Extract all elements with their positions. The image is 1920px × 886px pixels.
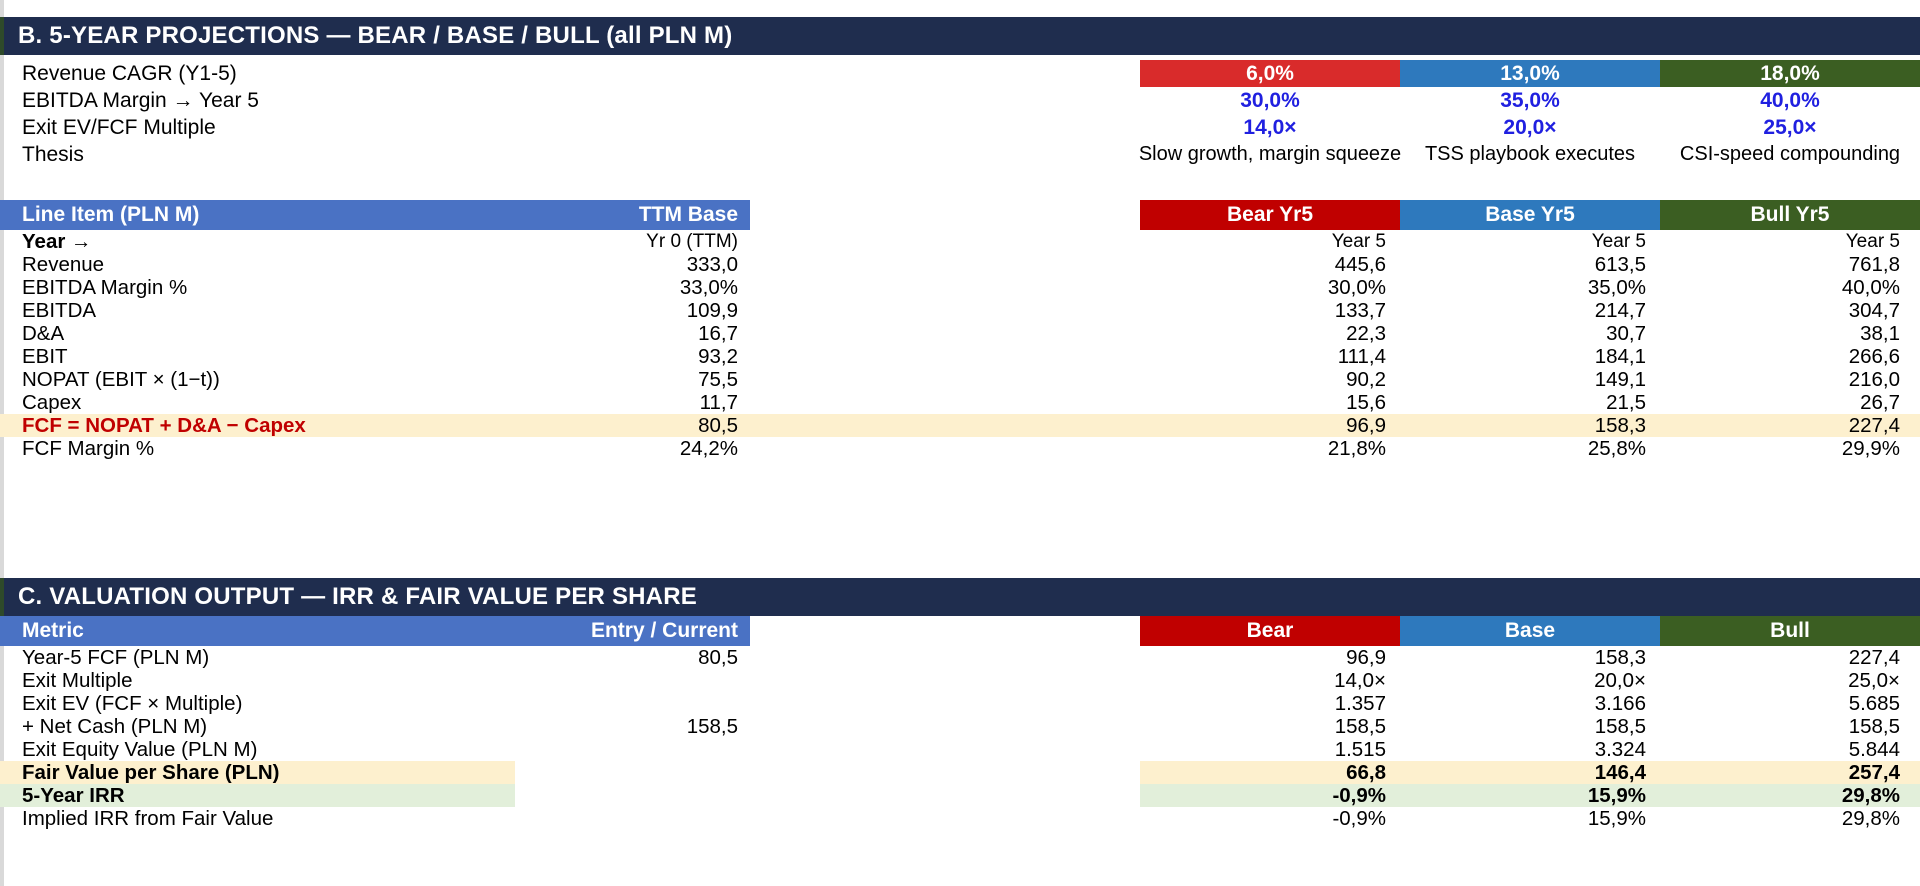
row-label: NOPAT (EBIT × (1−t)) — [0, 368, 560, 391]
row-entry-value — [560, 807, 750, 830]
assumption-gap — [750, 87, 1140, 114]
assumption-bull-value: 25,0× — [1660, 114, 1920, 141]
assumption-base-value: 13,0% — [1400, 60, 1660, 87]
row-bear-value: 445,6 — [1140, 253, 1400, 276]
table-row: EBITDA Margin % 33,0% 30,0% 35,0% 40,0% — [0, 276, 1920, 299]
header-gap — [750, 200, 1140, 230]
table-row: EBIT 93,2 111,4 184,1 266,6 — [0, 345, 1920, 368]
row-label: Revenue — [0, 253, 560, 276]
row-bear-value: 15,6 — [1140, 391, 1400, 414]
table-row: EBITDA 109,9 133,7 214,7 304,7 — [0, 299, 1920, 322]
assumption-spacer — [560, 87, 750, 114]
section-b-title: B. 5-YEAR PROJECTIONS — BEAR / BASE / BU… — [18, 22, 732, 50]
col-header-metric: Metric — [0, 616, 560, 646]
row-gap — [750, 276, 1140, 299]
row-base-value: 25,8% — [1400, 437, 1660, 460]
row-label: EBITDA Margin % — [0, 276, 560, 299]
row-base-value: 214,7 — [1400, 299, 1660, 322]
row-entry-value: 80,5 — [560, 646, 750, 669]
assumption-bear-value: 14,0× — [1140, 114, 1400, 141]
row-bear-value: 133,7 — [1140, 299, 1400, 322]
row-gap — [750, 669, 1140, 692]
row-gap — [750, 253, 1140, 276]
assumption-gap — [750, 141, 1140, 168]
row-bull-value: 216,0 — [1660, 368, 1920, 391]
row-bull-value: 761,8 — [1660, 253, 1920, 276]
row-bull-value: 29,9% — [1660, 437, 1920, 460]
row-bear-value: -0,9% — [1140, 784, 1400, 807]
row-gap — [750, 738, 1140, 761]
row-ttm-value: 24,2% — [560, 437, 750, 460]
row-base-value: 613,5 — [1400, 253, 1660, 276]
row-gap — [750, 230, 1140, 253]
row-bear-value: 21,8% — [1140, 437, 1400, 460]
col-header-base-yr5: Base Yr5 — [1400, 200, 1660, 230]
row-entry-value: 158,5 — [560, 715, 750, 738]
row-label: 5-Year IRR — [0, 784, 515, 807]
col-header-base: Base — [1400, 616, 1660, 646]
assumption-spacer — [560, 60, 750, 87]
col-header-entry-current: Entry / Current — [560, 616, 750, 646]
table-row: FCF Margin % 24,2% 21,8% 25,8% 29,9% — [0, 437, 1920, 460]
row-label: EBITDA — [0, 299, 560, 322]
table-row: Exit Equity Value (PLN M) 1.515 3.324 5.… — [0, 738, 1920, 761]
valuation-table-header: Metric Entry / Current Bear Base Bull — [0, 616, 1920, 646]
row-bull-value: 227,4 — [1660, 646, 1920, 669]
row-base-value: 149,1 — [1400, 368, 1660, 391]
row-bull-value: 158,5 — [1660, 715, 1920, 738]
row-entry-value — [560, 738, 750, 761]
section-c-title: C. VALUATION OUTPUT — IRR & FAIR VALUE P… — [18, 583, 697, 611]
assumption-gap — [750, 114, 1140, 141]
scenario-assumptions-block: Revenue CAGR (Y1-5) 6,0% 13,0% 18,0% EBI… — [0, 60, 1920, 168]
row-bear-value: 1.357 — [1140, 692, 1400, 715]
table-row-fcf: FCF = NOPAT + D&A − Capex 80,5 96,9 158,… — [0, 414, 1920, 437]
row-bear-value: 66,8 — [1140, 761, 1400, 784]
row-ttm-value: 80,5 — [560, 414, 750, 437]
row-bull-value: 38,1 — [1660, 322, 1920, 345]
table-row: Year-5 FCF (PLN M) 80,5 96,9 158,3 227,4 — [0, 646, 1920, 669]
row-base-value: 35,0% — [1400, 276, 1660, 299]
row-bear-value: Year 5 — [1140, 230, 1400, 253]
row-base-value: 146,4 — [1400, 761, 1660, 784]
row-bear-value: 96,9 — [1140, 414, 1400, 437]
row-label: D&A — [0, 322, 560, 345]
row-label: Exit EV (FCF × Multiple) — [0, 692, 560, 715]
row-label: FCF = NOPAT + D&A − Capex — [0, 414, 560, 437]
section-c-banner: C. VALUATION OUTPUT — IRR & FAIR VALUE P… — [0, 578, 1920, 616]
row-base-value: 15,9% — [1400, 784, 1660, 807]
row-base-value: 21,5 — [1400, 391, 1660, 414]
row-bear-value: 30,0% — [1140, 276, 1400, 299]
table-row: Capex 11,7 15,6 21,5 26,7 — [0, 391, 1920, 414]
valuation-table-body: Year-5 FCF (PLN M) 80,5 96,9 158,3 227,4… — [0, 646, 1920, 830]
assumption-bear-value: 30,0% — [1140, 87, 1400, 114]
row-label: Implied IRR from Fair Value — [0, 807, 560, 830]
row-bull-value: 25,0× — [1660, 669, 1920, 692]
assumption-label: Revenue CAGR (Y1-5) — [0, 60, 560, 87]
row-bull-value: 304,7 — [1660, 299, 1920, 322]
row-gap — [750, 299, 1140, 322]
row-gap — [750, 437, 1140, 460]
row-ttm-value: 16,7 — [560, 322, 750, 345]
row-bear-value: 22,3 — [1140, 322, 1400, 345]
assumption-gap — [750, 60, 1140, 87]
row-bear-value: 111,4 — [1140, 345, 1400, 368]
thesis-bull-text: CSI-speed compounding — [1660, 141, 1920, 168]
row-bull-value: 257,4 — [1660, 761, 1920, 784]
projections-table-header: Line Item (PLN M) TTM Base Bear Yr5 Base… — [0, 200, 1920, 230]
row-bear-value: 90,2 — [1140, 368, 1400, 391]
row-gap — [750, 784, 1140, 807]
table-row: NOPAT (EBIT × (1−t)) 75,5 90,2 149,1 216… — [0, 368, 1920, 391]
spreadsheet-canvas: B. 5-YEAR PROJECTIONS — BEAR / BASE / BU… — [0, 0, 1920, 886]
row-gap — [750, 646, 1140, 669]
table-row-fair-value: Fair Value per Share (PLN) 66,8 146,4 25… — [0, 761, 1920, 784]
table-row: Implied IRR from Fair Value -0,9% 15,9% … — [0, 807, 1920, 830]
row-label: Year-5 FCF (PLN M) — [0, 646, 560, 669]
assumption-label: Exit EV/FCF Multiple — [0, 114, 560, 141]
row-gap — [750, 368, 1140, 391]
row-label: Year → — [0, 230, 560, 253]
row-gap — [750, 761, 1140, 784]
row-entry-value — [515, 761, 750, 784]
row-gap — [750, 391, 1140, 414]
table-row: D&A 16,7 22,3 30,7 38,1 — [0, 322, 1920, 345]
col-header-line-item: Line Item (PLN M) — [0, 200, 560, 230]
row-bear-value: 14,0× — [1140, 669, 1400, 692]
row-base-value: 3.166 — [1400, 692, 1660, 715]
row-bull-value: 266,6 — [1660, 345, 1920, 368]
row-base-value: 3.324 — [1400, 738, 1660, 761]
row-bear-value: 1.515 — [1140, 738, 1400, 761]
row-gap — [750, 322, 1140, 345]
assumption-spacer — [560, 114, 750, 141]
row-bull-value: 5.844 — [1660, 738, 1920, 761]
row-base-value: 30,7 — [1400, 322, 1660, 345]
row-label: FCF Margin % — [0, 437, 560, 460]
assumption-row-exit-multiple: Exit EV/FCF Multiple 14,0× 20,0× 25,0× — [0, 114, 1920, 141]
row-ttm-value: 75,5 — [560, 368, 750, 391]
row-bull-value: 227,4 — [1660, 414, 1920, 437]
assumption-row-ebitda-margin: EBITDA Margin → Year 5 30,0% 35,0% 40,0% — [0, 87, 1920, 114]
row-entry-value — [560, 669, 750, 692]
col-header-bull-yr5: Bull Yr5 — [1660, 200, 1920, 230]
assumption-bull-value: 40,0% — [1660, 87, 1920, 114]
row-label: Capex — [0, 391, 560, 414]
row-bear-value: 96,9 — [1140, 646, 1400, 669]
row-ttm-value: 11,7 — [560, 391, 750, 414]
col-header-bull: Bull — [1660, 616, 1920, 646]
thesis-base-text: TSS playbook executes — [1400, 141, 1660, 168]
col-header-bear: Bear — [1140, 616, 1400, 646]
row-bear-value: -0,9% — [1140, 807, 1400, 830]
row-label: + Net Cash (PLN M) — [0, 715, 560, 738]
table-row: + Net Cash (PLN M) 158,5 158,5 158,5 158… — [0, 715, 1920, 738]
assumption-base-value: 35,0% — [1400, 87, 1660, 114]
row-bull-value: 5.685 — [1660, 692, 1920, 715]
row-bull-value: 29,8% — [1660, 807, 1920, 830]
row-base-value: 184,1 — [1400, 345, 1660, 368]
row-gap — [750, 345, 1140, 368]
row-gap — [750, 692, 1140, 715]
row-gap — [750, 807, 1140, 830]
row-bull-value: 40,0% — [1660, 276, 1920, 299]
table-row: Year → Yr 0 (TTM) Year 5 Year 5 Year 5 — [0, 230, 1920, 253]
row-ttm-value: 109,9 — [560, 299, 750, 322]
row-base-value: 20,0× — [1400, 669, 1660, 692]
table-row: Revenue 333,0 445,6 613,5 761,8 — [0, 253, 1920, 276]
row-bull-value: Year 5 — [1660, 230, 1920, 253]
valuation-table: Metric Entry / Current Bear Base Bull Ye… — [0, 616, 1920, 830]
row-base-value: Year 5 — [1400, 230, 1660, 253]
assumption-row-thesis: Thesis Slow growth, margin squeeze TSS p… — [0, 141, 1920, 168]
row-bear-value: 158,5 — [1140, 715, 1400, 738]
row-label: Exit Equity Value (PLN M) — [0, 738, 560, 761]
row-ttm-value: 333,0 — [560, 253, 750, 276]
row-entry-value — [560, 692, 750, 715]
col-header-ttm-base: TTM Base — [560, 200, 750, 230]
row-base-value: 158,3 — [1400, 646, 1660, 669]
row-label: EBIT — [0, 345, 560, 368]
row-base-value: 158,3 — [1400, 414, 1660, 437]
col-header-bear-yr5: Bear Yr5 — [1140, 200, 1400, 230]
row-ttm-value: 33,0% — [560, 276, 750, 299]
assumption-bull-value: 18,0% — [1660, 60, 1920, 87]
thesis-bear-text: Slow growth, margin squeeze — [1140, 141, 1400, 168]
assumption-label: Thesis — [0, 141, 560, 168]
row-base-value: 15,9% — [1400, 807, 1660, 830]
projections-table-body: Year → Yr 0 (TTM) Year 5 Year 5 Year 5 R… — [0, 230, 1920, 460]
projections-table: Line Item (PLN M) TTM Base Bear Yr5 Base… — [0, 200, 1920, 460]
assumption-base-value: 20,0× — [1400, 114, 1660, 141]
row-bull-value: 29,8% — [1660, 784, 1920, 807]
section-b-banner: B. 5-YEAR PROJECTIONS — BEAR / BASE / BU… — [0, 17, 1920, 55]
header-gap — [750, 616, 1140, 646]
row-label: Exit Multiple — [0, 669, 560, 692]
row-gap — [750, 715, 1140, 738]
assumption-spacer — [560, 141, 750, 168]
row-base-value: 158,5 — [1400, 715, 1660, 738]
table-row-irr: 5-Year IRR -0,9% 15,9% 29,8% — [0, 784, 1920, 807]
row-ttm-value: 93,2 — [560, 345, 750, 368]
assumption-row-revenue-cagr: Revenue CAGR (Y1-5) 6,0% 13,0% 18,0% — [0, 60, 1920, 87]
assumption-bear-value: 6,0% — [1140, 60, 1400, 87]
row-entry-value — [515, 784, 750, 807]
assumption-label: EBITDA Margin → Year 5 — [0, 87, 560, 114]
row-bull-value: 26,7 — [1660, 391, 1920, 414]
row-gap — [750, 414, 1140, 437]
table-row: Exit EV (FCF × Multiple) 1.357 3.166 5.6… — [0, 692, 1920, 715]
row-label: Fair Value per Share (PLN) — [0, 761, 515, 784]
row-ttm-value: Yr 0 (TTM) — [560, 230, 750, 253]
table-row: Exit Multiple 14,0× 20,0× 25,0× — [0, 669, 1920, 692]
